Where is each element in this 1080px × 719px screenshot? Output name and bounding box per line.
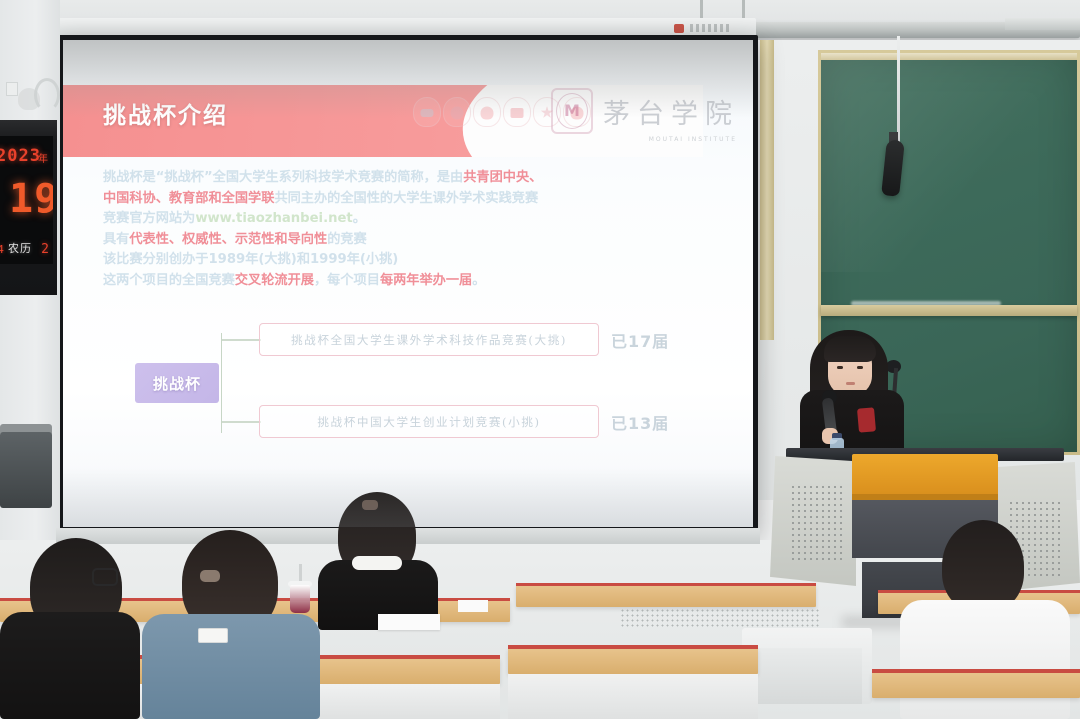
slide-body-span: 这两个项目的全国竞赛: [103, 273, 235, 288]
chalk-tray: [821, 305, 1077, 316]
slide-body-span: 交叉轮流开展: [235, 273, 314, 288]
eyeglasses-icon: [92, 568, 118, 586]
led-clock-display: 2023 年 19 4 农历 2: [0, 136, 53, 264]
blackboard-sheen: [821, 53, 1077, 272]
desk-surface: [508, 648, 758, 674]
jacket-emblem: [857, 407, 876, 432]
slide-body-span: 挑战杯是“挑战杯”全国大学生系列科技学术竞赛的简称，是由: [103, 170, 463, 185]
student-head: [942, 520, 1024, 612]
desk-mesh-panel: [620, 608, 820, 628]
slide-body-span: 具有: [103, 232, 129, 247]
student-collar: [352, 556, 402, 570]
diagram-branch-label: 挑战杯全国大学生课外学术科技作品竞赛(大挑): [259, 323, 599, 356]
logo-letter: M: [564, 101, 580, 120]
slide-title: 挑战杯介绍: [103, 96, 228, 130]
lectern-wood-top: [852, 454, 998, 496]
trash-bin: [0, 432, 52, 508]
badge-icon: [413, 97, 441, 127]
led-year-unit: 年: [38, 150, 48, 165]
slide-body-line: 中国科协、教育部和全国学联共同主办的全国性的大学生课外学术实践竞赛: [103, 189, 703, 210]
status-indicator: [674, 24, 684, 33]
slide-body-span: 。: [472, 273, 485, 288]
desk-edge: [508, 645, 758, 649]
logo-emblem-icon: M: [551, 88, 593, 134]
diagram-branch-count: 已17届: [611, 328, 669, 352]
slide-body-line: 该比赛分别创办于1989年(大挑)和1999年(小挑): [103, 250, 703, 271]
slide-body-line: 挑战杯是“挑战杯”全国大学生系列科技学术竞赛的简称，是由共青团中央、: [103, 168, 703, 189]
diagram-brace: [221, 333, 243, 433]
slide-body-span: 竞赛官方网站为: [103, 211, 195, 226]
slide-body-text: 挑战杯是“挑战杯”全国大学生系列科技学术竞赛的简称，是由共青团中央、中国科协、教…: [103, 168, 703, 292]
paper-sheet: [378, 614, 440, 630]
projector-screen: 挑战杯介绍 M 茅台学院 MOUTAI INSTITUTE 挑战杯是“挑战杯”全…: [58, 35, 758, 532]
hair-clip: [200, 570, 220, 582]
slide-body-line: 这两个项目的全国竞赛交叉轮流开展，每个项目每两年举办一届。: [103, 271, 703, 292]
led-lunar-value: 2: [41, 242, 49, 257]
drink-cup: [290, 585, 310, 613]
badge-icon: [443, 97, 471, 127]
slide-body-span: 该比赛分别创办于1989年(大挑)和1999年(小挑): [103, 252, 398, 267]
slide-body-span: 中国科协、教育部和全国学联: [103, 191, 274, 206]
desk-surface: [516, 585, 816, 607]
led-lunar-label: 农历: [8, 240, 32, 256]
slide-body-span: 每两年举办一届: [380, 273, 472, 288]
slide-diagram: 挑战杯 挑战杯全国大学生课外学术科技作品竞赛(大挑) 已17届 挑战杯中国大学生…: [63, 315, 753, 465]
slide-body-span: 共同主办的全国性的大学生课外学术实践竞赛: [274, 191, 538, 206]
student-torso: [0, 612, 140, 719]
name-badge: [198, 628, 228, 643]
slide-body-link[interactable]: www.tiaozhanbei.net: [195, 211, 352, 226]
presenter-mouth: [846, 382, 855, 385]
slide-body-span: 代表性、权威性、示范性和导向性: [129, 232, 327, 247]
slide-body-span: ，每个项目: [314, 273, 380, 288]
housing-label: [690, 24, 730, 32]
diagram-root-node: 挑战杯: [135, 363, 219, 403]
desk-surface: [872, 672, 1080, 698]
slide-body-span: 。: [353, 211, 366, 226]
diagram-branch-count: 已13届: [611, 410, 669, 434]
desk-front-panel: [508, 674, 758, 719]
stage-step-inner: [752, 648, 862, 704]
desk-edge: [872, 669, 1080, 673]
student-jacket: [142, 614, 320, 719]
logo-name: 茅台学院: [603, 92, 739, 131]
led-day-number: 19: [9, 176, 53, 222]
student-jacket: [900, 600, 1070, 719]
led-year: 2023: [0, 146, 41, 166]
hanging-microphone-cord: [897, 36, 900, 146]
door-frame: [760, 40, 774, 340]
institution-logo: M 茅台学院: [551, 88, 739, 134]
classroom-scene: 挑战杯介绍 M 茅台学院 MOUTAI INSTITUTE 挑战杯是“挑战杯”全…: [0, 0, 1080, 719]
speaker-grille-icon: [790, 484, 844, 560]
diagram-branch-label: 挑战杯中国大学生创业计划竞赛(小挑): [259, 405, 599, 438]
led-prefix-digit: 4: [0, 243, 4, 256]
lectern-left-speaker-panel: [770, 456, 856, 586]
slide-body-line: 具有代表性、权威性、示范性和导向性的竞赛: [103, 230, 703, 251]
paper-sheet: [458, 600, 488, 612]
desk-edge: [516, 583, 816, 586]
logo-subtitle: MOUTAI INSTITUTE: [649, 136, 737, 143]
ceiling-light-rail-secondary: [1005, 18, 1080, 30]
badge-icon: [473, 97, 501, 127]
presenter-eye: [857, 366, 863, 369]
badge-icon: [503, 97, 531, 127]
wall-socket: [6, 82, 18, 96]
hair-clip: [362, 500, 378, 510]
slide-body-line: 竞赛官方网站为www.tiaozhanbei.net。: [103, 209, 703, 230]
presenter-eye: [837, 366, 843, 369]
slide-body-span: 共青团中央、: [463, 170, 542, 185]
presentation-slide: 挑战杯介绍 M 茅台学院 MOUTAI INSTITUTE 挑战杯是“挑战杯”全…: [63, 40, 753, 527]
presenter-fringe: [824, 336, 876, 362]
slide-body-span: 的竞赛: [327, 232, 367, 247]
wall-bracket: [34, 78, 60, 112]
